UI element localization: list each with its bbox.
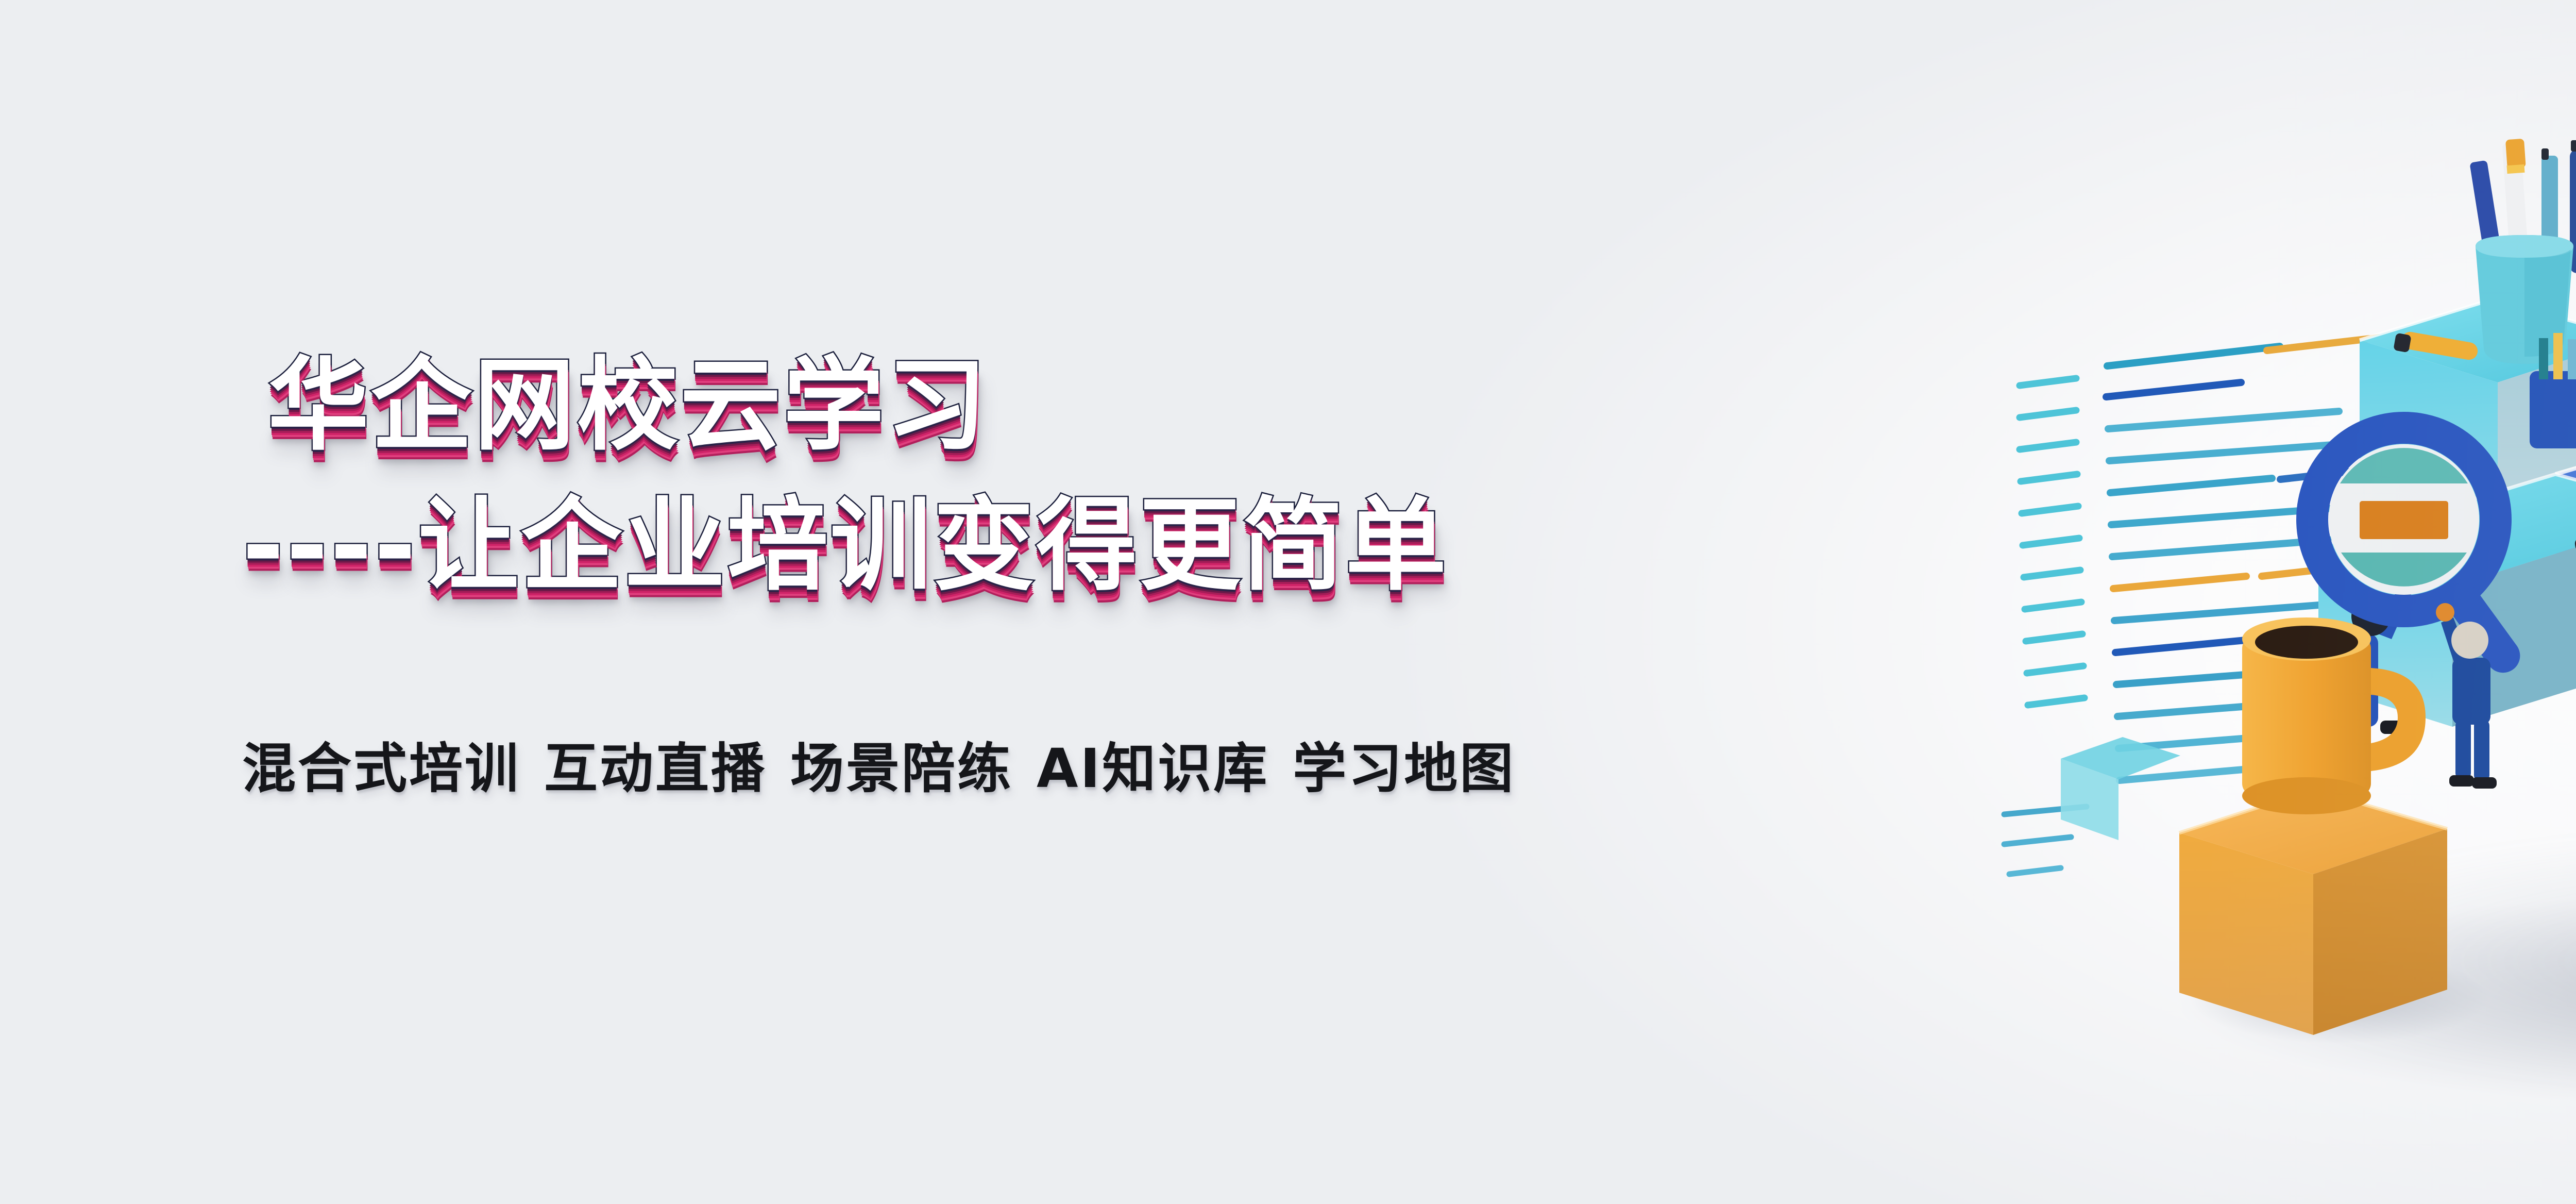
hero-banner: 华企网校云学习 ----让企业培训变得更简单 混合式培训互动直播场景陪练AI知识… bbox=[0, 0, 2576, 1204]
teal-block-far-left bbox=[2061, 737, 2180, 840]
subtitle-item-1: 混合式培训 bbox=[242, 737, 520, 800]
subtitle-item-4: AI知识库 bbox=[1037, 737, 1269, 800]
isometric-illustration bbox=[1999, 10, 2576, 1204]
headline-line-1: 华企网校云学习 bbox=[268, 324, 989, 470]
text-block: 华企网校云学习 ----让企业培训变得更简单 混合式培训互动直播场景陪练AI知识… bbox=[0, 0, 2009, 1204]
subtitle-item-5: 学习地图 bbox=[1293, 737, 1515, 800]
subtitle-item-3: 场景陪练 bbox=[790, 737, 1013, 800]
subtitle-item-2: 互动直播 bbox=[544, 737, 767, 800]
subtitle-row: 混合式培训互动直播场景陪练AI知识库学习地图 bbox=[242, 725, 1515, 802]
headline-line-2: ----让企业培训变得更简单 bbox=[242, 464, 1448, 610]
orange-pedestal bbox=[2179, 790, 2447, 1035]
